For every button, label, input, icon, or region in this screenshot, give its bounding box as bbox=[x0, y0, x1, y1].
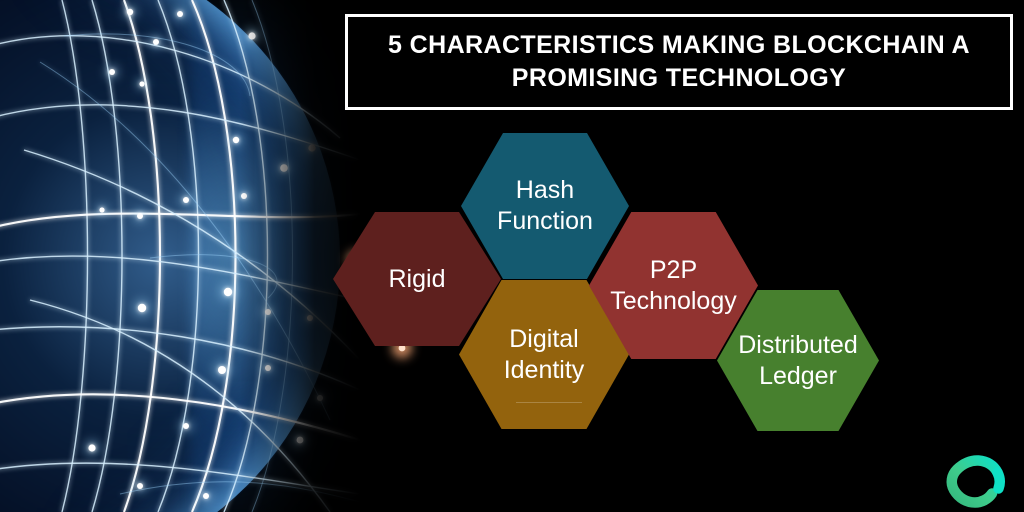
globe-network-background bbox=[0, 0, 360, 512]
digital-identity-underline bbox=[516, 402, 582, 403]
title-box: 5 CHARACTERISTICS MAKING BLOCKCHAIN A PR… bbox=[345, 14, 1013, 110]
infographic-canvas: 5 CHARACTERISTICS MAKING BLOCKCHAIN A PR… bbox=[0, 0, 1024, 512]
title-line-1: 5 CHARACTERISTICS MAKING BLOCKCHAIN A bbox=[388, 29, 970, 62]
brand-logo[interactable] bbox=[943, 452, 1007, 508]
hexagon-hash-function-label: Hash Function bbox=[491, 175, 599, 237]
hexagon-distributed-ledger-label: Distributed Ledger bbox=[732, 330, 864, 392]
hexagon-digital-identity-label: Digital Identity bbox=[498, 324, 591, 386]
hexagon-p2p-technology-label: P2P Technology bbox=[604, 255, 742, 317]
title-line-2: PROMISING TECHNOLOGY bbox=[512, 62, 846, 95]
hexagon-rigid-label: Rigid bbox=[383, 264, 452, 295]
